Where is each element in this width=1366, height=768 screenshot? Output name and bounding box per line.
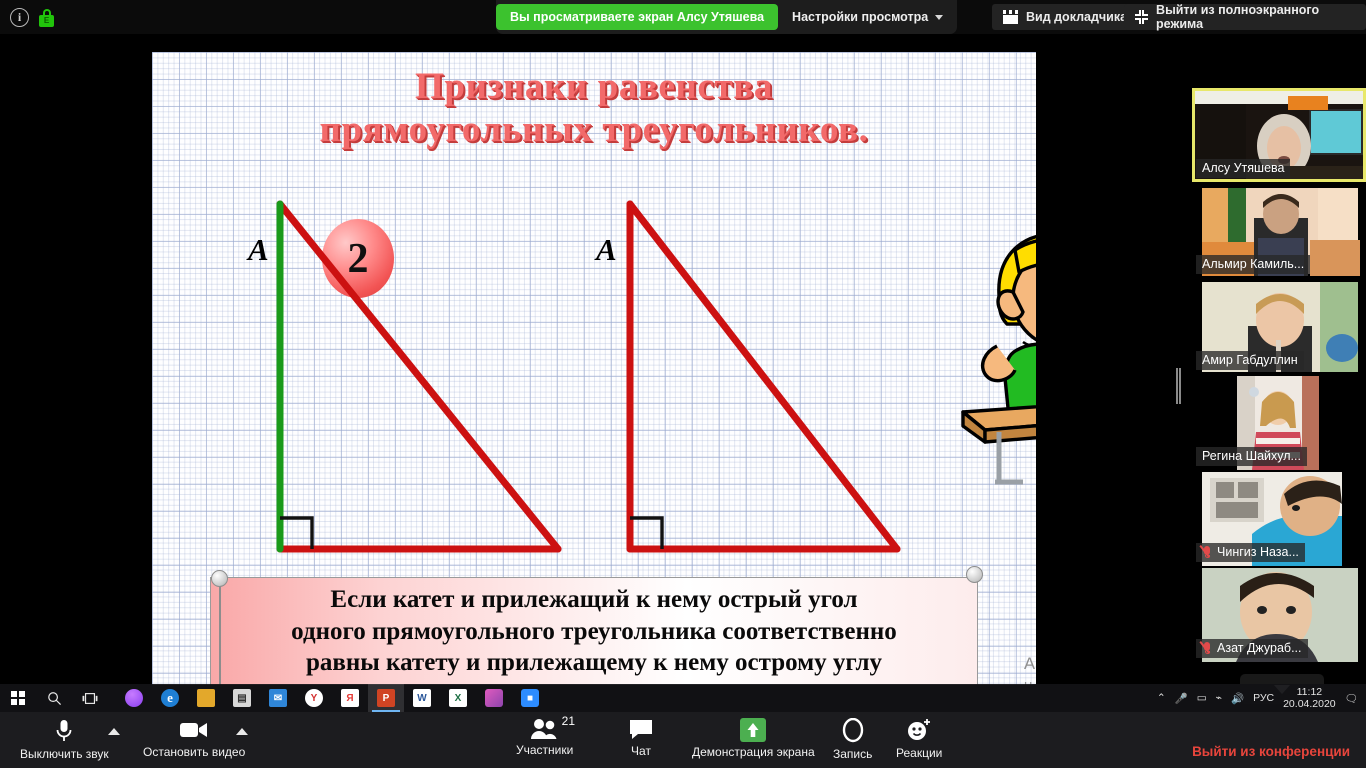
tray-clock[interactable]: 11:12 20.04.2020 xyxy=(1283,686,1336,710)
video-thumbnail-1[interactable]: Альмир Камиль... xyxy=(1192,184,1366,278)
participant-filmstrip[interactable]: Алсу Утяшева Альмир Камиль... xyxy=(1192,88,1366,668)
triangle2-vertex-a: A xyxy=(596,232,617,268)
audio-options-caret[interactable] xyxy=(108,728,120,735)
notifications-icon[interactable]: 🗨 xyxy=(1345,692,1358,705)
chevron-up-icon xyxy=(108,728,120,735)
participant-name-3: Регина Шайхул... xyxy=(1196,447,1307,466)
speaker-view-label: Вид докладчика xyxy=(1026,10,1127,24)
share-screen-button[interactable]: Демонстрация экрана xyxy=(692,718,815,759)
chat-icon xyxy=(628,718,654,741)
yandex-browser-icon[interactable]: Y xyxy=(296,684,332,712)
student-clipart xyxy=(957,220,1036,495)
share-screen-icon xyxy=(740,718,766,742)
zoom-icon[interactable]: ■ xyxy=(512,684,548,712)
participant-name-5: Азат Джураб... xyxy=(1196,639,1308,658)
triangle1-vertex-a: A xyxy=(248,232,269,268)
participant-label-4: Чингиз Наза... xyxy=(1217,545,1299,559)
participant-label-2: Амир Габдуллин xyxy=(1202,353,1298,367)
participant-label-0: Алсу Утяшева xyxy=(1202,161,1284,175)
video-options-caret[interactable] xyxy=(236,728,248,735)
chat-label: Чат xyxy=(631,744,651,758)
triangle-1 xyxy=(280,204,558,549)
participant-name-4: Чингиз Наза... xyxy=(1196,543,1305,562)
exit-fullscreen-icon xyxy=(1135,10,1148,24)
participant-label-5: Азат Джураб... xyxy=(1217,641,1302,655)
statement-line-1: Если катет и прилежащий к нему острый уг… xyxy=(330,584,857,616)
participants-button[interactable]: 21 Участники xyxy=(516,718,573,757)
chevron-up-icon[interactable]: ⌃ xyxy=(1157,692,1166,704)
volume-icon[interactable]: 🔊 xyxy=(1231,692,1244,705)
sharing-notice: Вы просматриваете экран Алсу Утяшева xyxy=(496,4,778,30)
tray-language[interactable]: РУС xyxy=(1253,692,1274,704)
tray-time: 11:12 xyxy=(1283,686,1336,698)
task-view-icon[interactable] xyxy=(72,684,108,712)
participant-name-1: Альмир Камиль... xyxy=(1196,255,1310,274)
task-view-glyph xyxy=(82,692,98,705)
video-thumbnail-0[interactable]: Алсу Утяшева xyxy=(1192,88,1366,182)
triangle-2 xyxy=(630,204,897,549)
search-icon[interactable] xyxy=(36,684,72,712)
microsoft-store-icon[interactable]: ▤ xyxy=(224,684,260,712)
mute-label: Выключить звук xyxy=(20,747,109,761)
participants-label: Участники xyxy=(516,743,573,757)
windows-taskbar[interactable]: e ▤ ✉ Y Я P W X ■ ⌃ 🎤 ▭ ⌁ 🔊 РУС 11:12 20… xyxy=(0,684,1366,712)
shared-screen-presentation[interactable]: Признаки равенства прямоугольных треугол… xyxy=(152,52,1036,685)
video-thumbnail-4[interactable]: Чингиз Наза... xyxy=(1192,472,1366,566)
reactions-label: Реакции xyxy=(896,746,942,760)
chat-button[interactable]: Чат xyxy=(628,718,654,758)
video-thumbnail-3[interactable]: Регина Шайхул... xyxy=(1192,376,1366,470)
statement-handle-left[interactable] xyxy=(211,570,228,587)
word-icon[interactable]: W xyxy=(404,684,440,712)
stop-video-label: Остановить видео xyxy=(143,745,245,759)
cortana-icon[interactable] xyxy=(116,684,152,712)
zoom-control-bar: Выключить звук Остановить видео 21 Участ… xyxy=(0,712,1366,768)
screen-sharing-group: Вы просматриваете экран Алсу Утяшева Нас… xyxy=(496,0,957,34)
stop-video-button[interactable]: Остановить видео xyxy=(143,718,245,759)
muted-microphone-icon xyxy=(1202,642,1213,655)
participant-name-2: Амир Габдуллин xyxy=(1196,351,1304,370)
reactions-icon xyxy=(906,718,932,743)
theorem-statement-box: Если катет и прилежащий к нему острый уг… xyxy=(210,577,978,685)
share-screen-label: Демонстрация экрана xyxy=(692,745,815,759)
search-glyph xyxy=(47,691,62,706)
view-options-button[interactable]: Настройки просмотра xyxy=(778,0,957,34)
record-icon xyxy=(841,718,865,744)
top-bar-left-icons: i E xyxy=(10,8,54,27)
record-label: Запись xyxy=(833,747,872,761)
windows-start-icon[interactable] xyxy=(0,684,36,712)
mute-button[interactable]: Выключить звук xyxy=(20,718,109,761)
leave-meeting-button[interactable]: Выйти из конференции xyxy=(1192,744,1350,759)
chevron-down-icon xyxy=(935,15,943,20)
info-icon[interactable]: i xyxy=(10,8,29,27)
video-thumbnail-5[interactable]: Азат Джураб... xyxy=(1192,568,1366,662)
microphone-icon xyxy=(52,718,76,744)
tray-date: 20.04.2020 xyxy=(1283,698,1336,710)
microphone-icon[interactable]: 🎤 xyxy=(1175,692,1188,705)
lock-body: E xyxy=(39,15,54,27)
statement-line-3: равны катету и прилежащему к нему остром… xyxy=(306,647,882,679)
yandex-icon[interactable]: Я xyxy=(332,684,368,712)
excel-icon[interactable]: X xyxy=(440,684,476,712)
statement-line-2: одного прямоугольного треугольника соотв… xyxy=(291,616,897,648)
file-explorer-icon[interactable] xyxy=(188,684,224,712)
mail-icon[interactable]: ✉ xyxy=(260,684,296,712)
video-camera-icon xyxy=(179,718,209,742)
participant-name-0: Алсу Утяшева xyxy=(1196,159,1290,178)
view-options-label: Настройки просмотра xyxy=(792,10,928,24)
muted-microphone-icon xyxy=(1202,546,1213,559)
filmstrip-drag-handle[interactable] xyxy=(1176,368,1181,404)
battery-icon[interactable]: ▭ xyxy=(1197,692,1207,704)
record-button[interactable]: Запись xyxy=(833,718,872,761)
up-arrow-glyph xyxy=(746,722,760,738)
chevron-up-icon xyxy=(236,728,248,735)
participants-count: 21 xyxy=(562,714,575,728)
participant-label-3: Регина Шайхул... xyxy=(1202,449,1301,463)
exit-fullscreen-label: Выйти из полноэкранного режима xyxy=(1156,3,1355,31)
exit-fullscreen-button[interactable]: Выйти из полноэкранного режима xyxy=(1124,4,1366,30)
photos-icon[interactable] xyxy=(476,684,512,712)
reactions-button[interactable]: Реакции xyxy=(896,718,942,760)
zoom-top-bar: i E Вы просматриваете экран Алсу Утяшева… xyxy=(0,0,1366,34)
wifi-icon[interactable]: ⌁ xyxy=(1216,692,1222,704)
participant-label-1: Альмир Камиль... xyxy=(1202,257,1304,271)
edge-icon[interactable]: e xyxy=(152,684,188,712)
statement-handle-right[interactable] xyxy=(966,566,983,583)
speaker-view-icon xyxy=(1003,10,1018,24)
encryption-lock-icon[interactable]: E xyxy=(39,9,54,27)
speaker-view-button[interactable]: Вид докладчика xyxy=(992,4,1138,30)
participants-icon xyxy=(530,718,560,740)
system-tray[interactable]: ⌃ 🎤 ▭ ⌁ 🔊 РУС 11:12 20.04.2020 🗨 xyxy=(1157,686,1366,710)
powerpoint-icon[interactable]: P xyxy=(368,684,404,712)
video-thumbnail-2[interactable]: Амир Габдуллин xyxy=(1192,280,1366,374)
